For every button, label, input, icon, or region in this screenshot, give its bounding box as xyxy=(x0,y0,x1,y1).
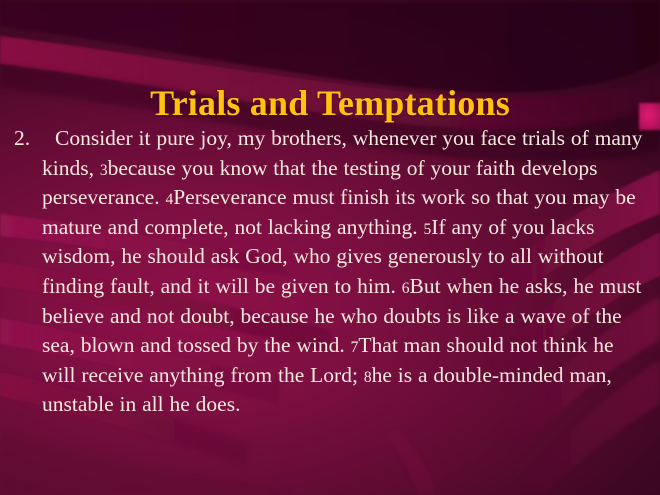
presentation-slide: Trials and Temptations 2. Consider it pu… xyxy=(0,0,660,495)
verse-number: 8 xyxy=(364,369,372,386)
verse-number: 7 xyxy=(351,339,359,356)
slide-title: Trials and Temptations xyxy=(0,85,660,123)
verse-number: 4 xyxy=(165,191,173,208)
slide-body: 2. Consider it pure joy, my brothers, wh… xyxy=(14,124,648,420)
scripture-text: Consider it pure joy, my brothers, whene… xyxy=(42,124,648,420)
verse-number: 3 xyxy=(100,162,108,179)
scripture-paragraph: 2. Consider it pure joy, my brothers, wh… xyxy=(14,124,648,420)
verse-number: 6 xyxy=(402,280,410,297)
verse-number: 5 xyxy=(424,221,432,238)
paragraph-number: 2. xyxy=(14,124,42,154)
